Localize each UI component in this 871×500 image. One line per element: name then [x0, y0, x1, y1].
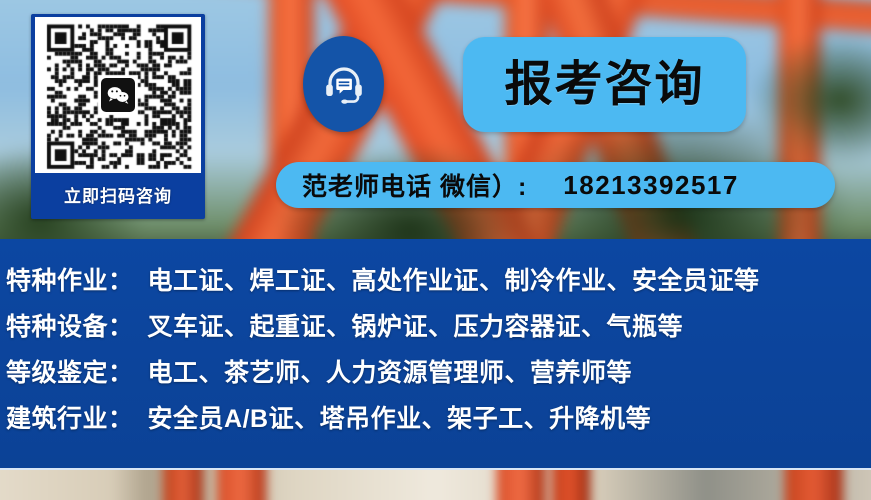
- category-row: 特种作业： 电工证、焊工证、高处作业证、制冷作业、安全员证等: [6, 261, 871, 307]
- category-row: 特种设备： 叉车证、起重证、锅炉证、压力容器证、气瓶等: [6, 307, 871, 353]
- footer-background-photo: [0, 470, 871, 500]
- contact-phone-pill[interactable]: 范老师电话 微信）: 18213392517: [276, 162, 835, 208]
- wechat-icon-glyph: [106, 86, 130, 104]
- qr-code-image[interactable]: [35, 17, 201, 173]
- category-label: 特种设备：: [6, 307, 134, 343]
- certificate-categories-panel: 特种作业： 电工证、焊工证、高处作业证、制冷作业、安全员证等 特种设备： 叉车证…: [0, 239, 871, 470]
- category-label: 等级鉴定：: [6, 353, 134, 389]
- category-label: 建筑行业：: [6, 399, 134, 435]
- category-value: 电工、茶艺师、人力资源管理师、营养师等: [148, 353, 633, 389]
- consult-cta-label: 报考咨询: [504, 61, 704, 109]
- category-value: 电工证、焊工证、高处作业证、制冷作业、安全员证等: [148, 261, 760, 297]
- footer-photo-strip: [0, 470, 871, 500]
- contact-phone-label: 范老师电话 微信）:: [302, 167, 527, 203]
- consult-cta-button[interactable]: 报考咨询: [463, 37, 746, 132]
- category-label: 特种作业：: [6, 261, 134, 297]
- qr-card-caption: 立即扫码咨询: [34, 173, 202, 216]
- category-value: 安全员A/B证、塔吊作业、架子工、升降机等: [148, 399, 652, 435]
- category-row: 等级鉴定： 电工、茶艺师、人力资源管理师、营养师等: [6, 353, 871, 399]
- hero-section: 立即扫码咨询 报考咨询 范老师电话 微信）: 18213392517: [0, 0, 871, 239]
- headset-support-icon-glyph: [320, 60, 368, 108]
- wechat-icon: [101, 78, 135, 112]
- qr-code-card[interactable]: 立即扫码咨询: [31, 14, 205, 219]
- category-row: 建筑行业： 安全员A/B证、塔吊作业、架子工、升降机等: [6, 399, 871, 445]
- contact-phone-number[interactable]: 18213392517: [563, 170, 739, 201]
- headset-support-icon[interactable]: [303, 36, 384, 132]
- category-value: 叉车证、起重证、锅炉证、压力容器证、气瓶等: [148, 307, 684, 343]
- promo-banner: 立即扫码咨询 报考咨询 范老师电话 微信）: 18213392517: [0, 0, 871, 500]
